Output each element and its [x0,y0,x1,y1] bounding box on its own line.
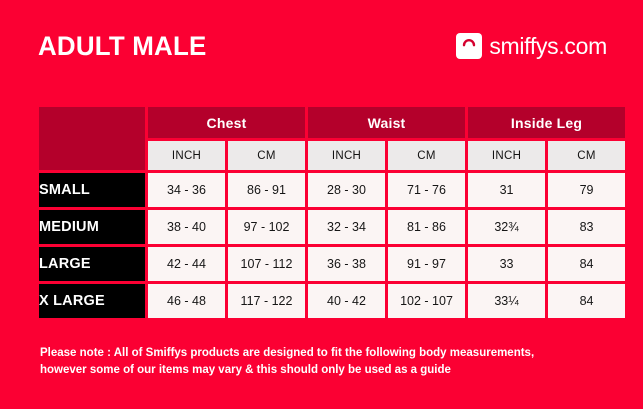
size-chart-table: Chest Waist Inside Leg INCH CM INCH CM I… [36,104,628,321]
cell-inside-leg-inch: 32¾ [468,210,545,244]
cell-inside-leg-inch: 33¼ [468,284,545,318]
size-label-medium: MEDIUM [39,210,145,244]
unit-header-inside-leg-cm: CM [548,141,625,170]
cell-waist-inch: 28 - 30 [308,173,385,207]
cell-waist-inch: 32 - 34 [308,210,385,244]
cell-chest-inch: 46 - 48 [148,284,225,318]
size-label-large: LARGE [39,247,145,281]
unit-header-chest-inch: INCH [148,141,225,170]
cell-waist-cm: 102 - 107 [388,284,465,318]
cell-inside-leg-inch: 33 [468,247,545,281]
column-group-chest: Chest [148,107,305,138]
cell-chest-cm: 117 - 122 [228,284,305,318]
cell-inside-leg-cm: 79 [548,173,625,207]
cell-waist-inch: 36 - 38 [308,247,385,281]
cell-chest-cm: 97 - 102 [228,210,305,244]
cell-chest-inch: 34 - 36 [148,173,225,207]
column-group-inside-leg: Inside Leg [468,107,625,138]
footer-note-line-1: Please note : All of Smiffys products ar… [40,345,610,362]
unit-header-inside-leg-inch: INCH [468,141,545,170]
size-chart-page: ADULT MALE smiffys.com Chest Waist Insid… [0,0,643,409]
page-header: ADULT MALE smiffys.com [0,0,643,92]
page-title: ADULT MALE [38,33,206,60]
unit-header-waist-inch: INCH [308,141,385,170]
cell-chest-cm: 86 - 91 [228,173,305,207]
cell-inside-leg-cm: 83 [548,210,625,244]
unit-header-chest-cm: CM [228,141,305,170]
brand-name: smiffys.com [489,35,607,58]
table-corner-cell [39,107,145,170]
table-row: SMALL 34 - 36 86 - 91 28 - 30 71 - 76 31… [39,173,625,207]
cell-waist-cm: 81 - 86 [388,210,465,244]
table-row: MEDIUM 38 - 40 97 - 102 32 - 34 81 - 86 … [39,210,625,244]
unit-header-waist-cm: CM [388,141,465,170]
cell-waist-inch: 40 - 42 [308,284,385,318]
size-label-x-large: X LARGE [39,284,145,318]
column-group-waist: Waist [308,107,465,138]
smile-logo-icon [456,33,482,59]
cell-chest-inch: 42 - 44 [148,247,225,281]
brand-logo: smiffys.com [456,33,607,59]
size-label-small: SMALL [39,173,145,207]
cell-waist-cm: 71 - 76 [388,173,465,207]
table-group-header-row: Chest Waist Inside Leg [39,107,625,138]
cell-inside-leg-cm: 84 [548,284,625,318]
cell-inside-leg-cm: 84 [548,247,625,281]
footer-note-line-2: however some of our items may vary & thi… [40,362,610,379]
footer-note: Please note : All of Smiffys products ar… [40,345,610,378]
table-row: LARGE 42 - 44 107 - 112 36 - 38 91 - 97 … [39,247,625,281]
cell-waist-cm: 91 - 97 [388,247,465,281]
table-row: X LARGE 46 - 48 117 - 122 40 - 42 102 - … [39,284,625,318]
cell-chest-cm: 107 - 112 [228,247,305,281]
cell-inside-leg-inch: 31 [468,173,545,207]
cell-chest-inch: 38 - 40 [148,210,225,244]
